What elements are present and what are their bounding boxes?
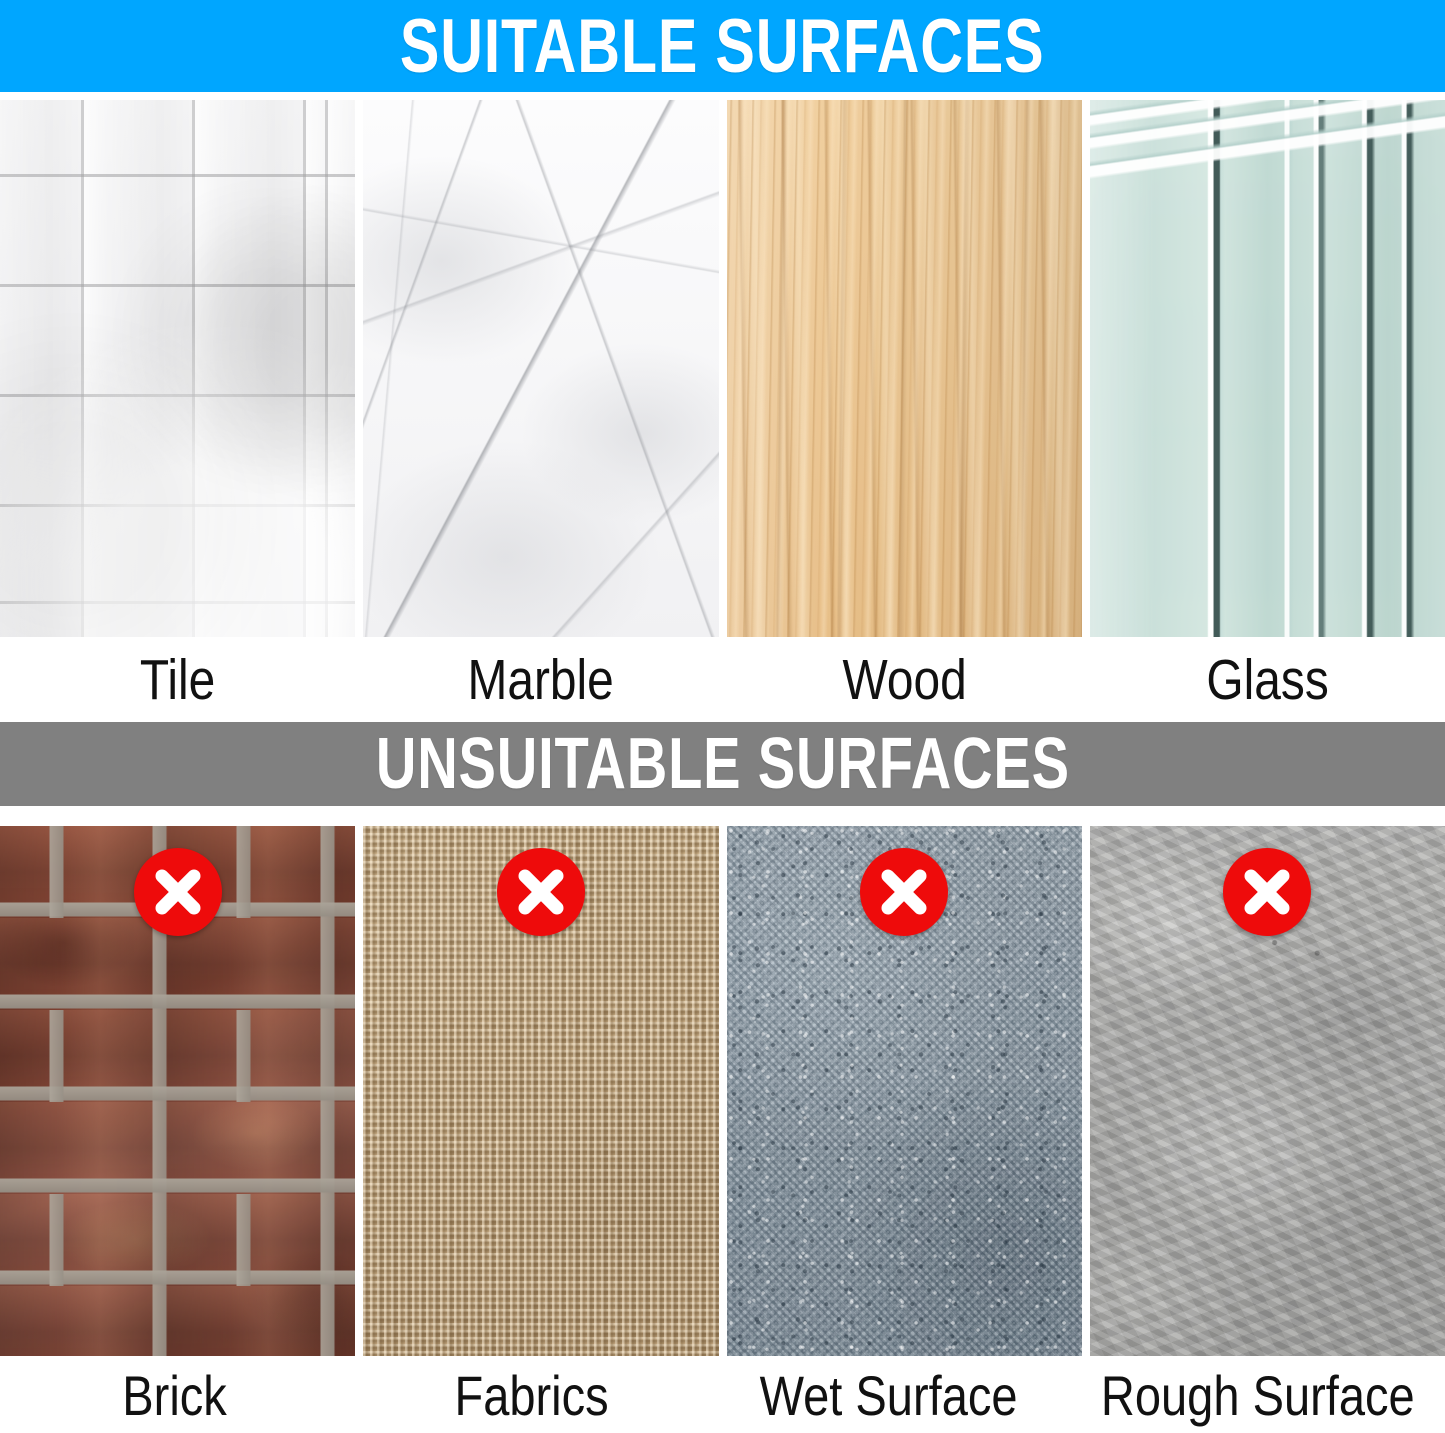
surface-label-rough-surface: Rough Surface: [1101, 1358, 1415, 1433]
surface-label-marble: Marble: [392, 641, 690, 719]
surface-cell-fabrics: [363, 826, 718, 1356]
surface-cell-wood: [727, 100, 1082, 637]
unsuitable-surfaces-labels: Brick Fabrics Wet Surface Rough Surface: [0, 1358, 1445, 1433]
suitable-surfaces-banner: SUITABLE SURFACES: [0, 0, 1445, 92]
surface-cell-wet-surface: [727, 826, 1082, 1356]
surface-label-fabrics: Fabrics: [385, 1358, 678, 1433]
surface-label-tile: Tile: [28, 641, 326, 719]
surface-cell-brick: [0, 826, 355, 1356]
surface-cell-marble: [363, 100, 718, 637]
marble-texture-image: [363, 100, 718, 637]
suitable-surfaces-labels: Tile Marble Wood Glass: [0, 641, 1445, 719]
unsuitable-banner-title: UNSUITABLE SURFACES: [376, 723, 1070, 805]
suitable-surfaces-infographic: SUITABLE SURFACES Tile Marble Wood Glass…: [0, 0, 1445, 1433]
unsuitable-surfaces-banner: UNSUITABLE SURFACES: [0, 722, 1445, 806]
glass-texture-image: [1090, 100, 1445, 637]
surface-cell-tile: [0, 100, 355, 637]
wood-texture-image: [727, 100, 1082, 637]
surface-cell-rough-surface: [1090, 826, 1445, 1356]
surface-label-wood: Wood: [755, 641, 1053, 719]
x-mark-icon-wet-surface: [860, 848, 948, 936]
surface-label-brick: Brick: [28, 1358, 321, 1433]
surface-label-glass: Glass: [1118, 641, 1416, 719]
suitable-banner-title: SUITABLE SURFACES: [400, 3, 1045, 90]
surface-cell-glass: [1090, 100, 1445, 637]
tile-texture-image: [0, 100, 355, 637]
x-mark-icon-rough-surface: [1223, 848, 1311, 936]
surface-label-wet-surface: Wet Surface: [742, 1358, 1035, 1433]
suitable-surfaces-row: [0, 100, 1445, 637]
x-mark-icon-fabrics: [497, 848, 585, 936]
unsuitable-surfaces-row: [0, 826, 1445, 1356]
x-mark-icon-brick: [134, 848, 222, 936]
